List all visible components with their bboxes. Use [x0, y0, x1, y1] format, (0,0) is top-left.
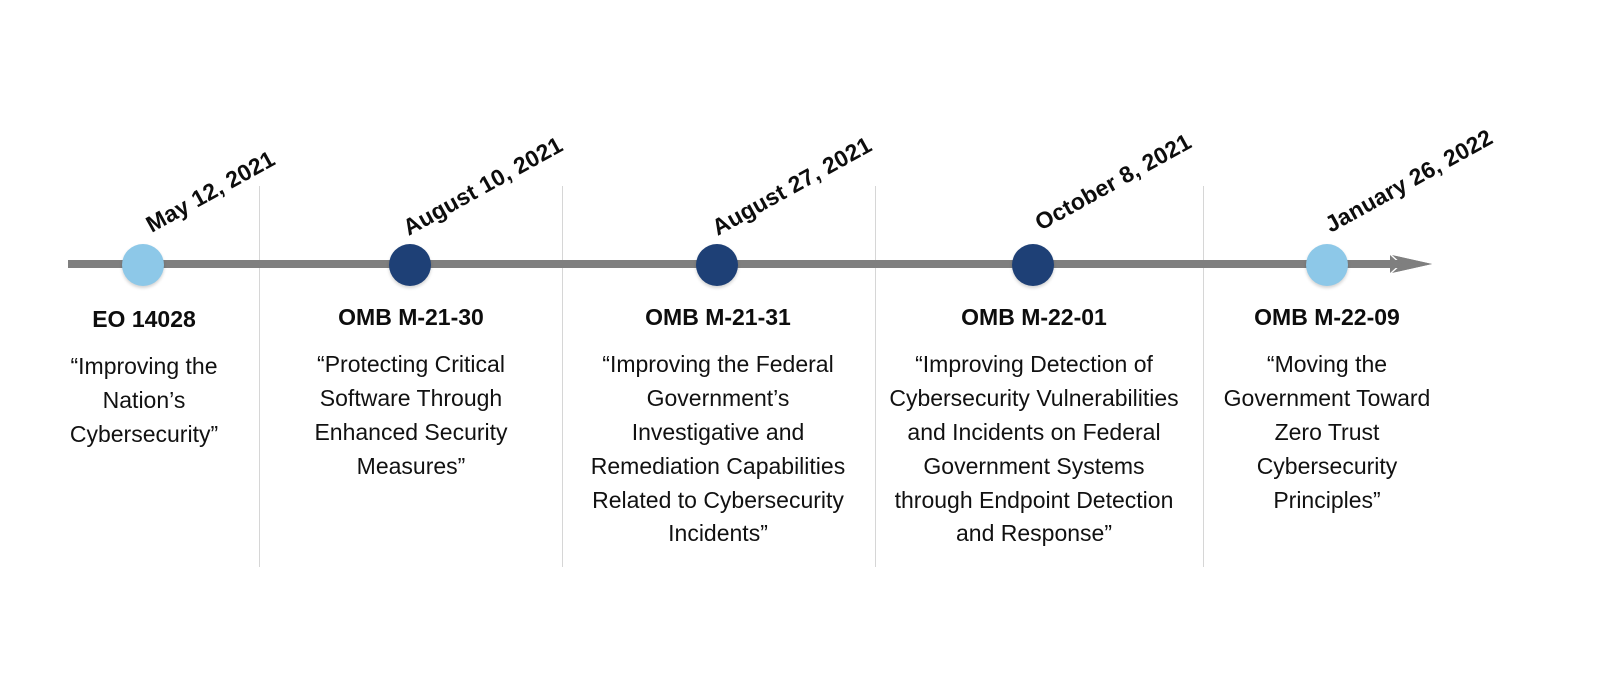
milestone-date-5: January 26, 2022 — [1320, 124, 1497, 238]
milestone-title-4: OMB M-22-01 — [888, 304, 1180, 330]
milestone-body-1: “Improving the Nation’s Cybersecurity” — [38, 350, 250, 451]
milestone-column-3: OMB M-21-31 “Improving the Federal Gover… — [583, 304, 853, 551]
column-divider-3 — [875, 186, 876, 567]
milestone-date-3: August 27, 2021 — [707, 131, 876, 241]
milestone-dot-4[interactable] — [1012, 244, 1054, 286]
column-divider-2 — [562, 186, 563, 567]
milestone-title-2: OMB M-21-30 — [292, 304, 530, 330]
column-divider-4 — [1203, 186, 1204, 567]
milestone-date-4: October 8, 2021 — [1030, 128, 1196, 236]
milestone-title-3: OMB M-21-31 — [583, 304, 853, 330]
timeline-diagram: May 12, 2021 August 10, 2021 August 27, … — [0, 0, 1600, 673]
milestone-body-2: “Protecting Critical Software Through En… — [292, 348, 530, 483]
milestone-dot-3[interactable] — [696, 244, 738, 286]
milestone-title-5: OMB M-22-09 — [1213, 304, 1441, 330]
milestone-dot-2[interactable] — [389, 244, 431, 286]
milestone-column-2: OMB M-21-30 “Protecting Critical Softwar… — [292, 304, 530, 484]
milestone-body-4: “Improving Detection of Cybersecurity Vu… — [888, 348, 1180, 551]
milestone-column-5: OMB M-22-09 “Moving the Government Towar… — [1213, 304, 1441, 517]
column-divider-1 — [259, 186, 260, 567]
milestone-body-5: “Moving the Government Toward Zero Trust… — [1213, 348, 1441, 517]
milestone-date-2: August 10, 2021 — [398, 131, 567, 241]
milestone-title-1: EO 14028 — [38, 306, 250, 332]
milestone-dot-5[interactable] — [1306, 244, 1348, 286]
arrow-right-icon — [1390, 243, 1434, 285]
milestone-body-3: “Improving the Federal Government’s Inve… — [583, 348, 853, 551]
milestone-column-1: EO 14028 “Improving the Nation’s Cyberse… — [38, 306, 250, 452]
milestone-dot-1[interactable] — [122, 244, 164, 286]
milestone-column-4: OMB M-22-01 “Improving Detection of Cybe… — [888, 304, 1180, 551]
